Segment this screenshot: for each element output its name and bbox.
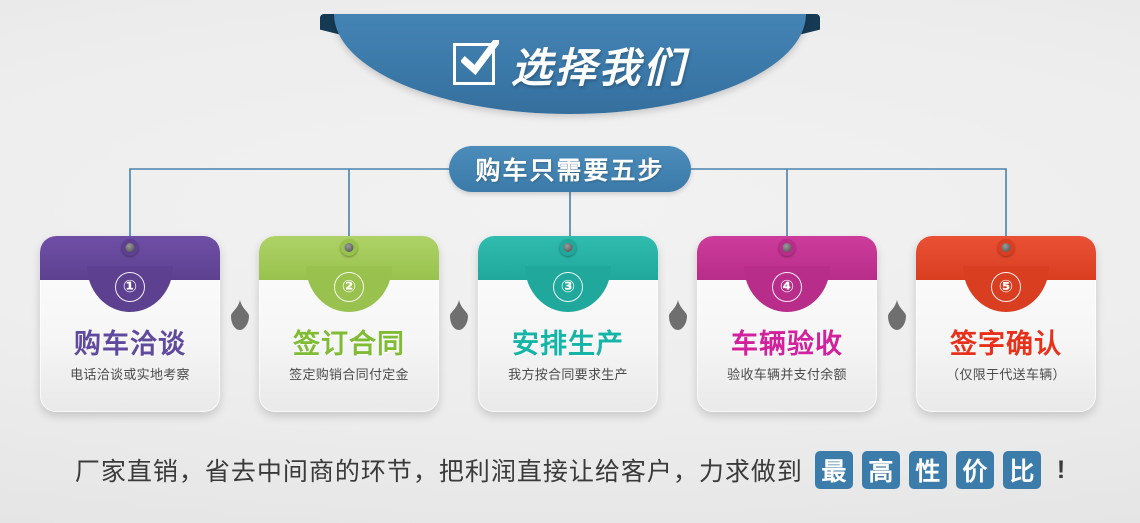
banner-body: 选择我们 [334,14,806,114]
step-number-badge: ③ [553,272,583,302]
steps-badge-label: 购车只需要五步 [475,151,664,187]
step-subtitle: 验收车辆并支付余额 [697,364,877,383]
arrow-pointer-icon [667,300,689,330]
step-card[interactable]: ②签订合同签定购销合同付定金 [259,236,439,412]
checkbox-checked-icon [453,43,495,85]
step-title: 购车洽谈 [40,322,220,361]
arrow-pointer-icon [886,300,908,330]
banner-title: 选择我们 [511,34,687,94]
grommet-icon [560,239,577,256]
arrow-pointer-icon [229,300,251,330]
step-number-badge: ① [115,272,145,302]
grommet-icon [122,239,139,256]
footer-highlight-char: 性 [909,451,947,489]
step-number-badge: ② [334,272,364,302]
step-title: 签字确认 [916,322,1096,361]
arrow-pointer-icon [448,300,470,330]
footer-tagline: 厂家直销，省去中间商的环节，把利润直接让给客户，力求做到 最高性价比 ! [0,442,1140,498]
footer-text-before: 厂家直销，省去中间商的环节，把利润直接让给客户，力求做到 [75,452,803,488]
footer-highlight-char: 比 [1003,451,1041,489]
infographic-root: 选择我们 购车只需要五步 ①购车洽谈电话洽谈或实地考察②签订合同签定购销合同付定… [0,0,1140,523]
grommet-icon [341,239,358,256]
step-title: 签订合同 [259,322,439,361]
step-card[interactable]: ①购车洽谈电话洽谈或实地考察 [40,236,220,412]
step-number-badge: ⑤ [991,272,1021,302]
footer-highlight-char: 最 [815,451,853,489]
step-subtitle: （仅限于代送车辆） [916,364,1096,383]
step-subtitle: 我方按合同要求生产 [478,364,658,383]
footer-highlight-char: 高 [862,451,900,489]
step-subtitle: 签定购销合同付定金 [259,364,439,383]
steps-row: ①购车洽谈电话洽谈或实地考察②签订合同签定购销合同付定金③安排生产我方按合同要求… [0,236,1140,416]
step-card[interactable]: ⑤签字确认（仅限于代送车辆） [916,236,1096,412]
step-card[interactable]: ④车辆验收验收车辆并支付余额 [697,236,877,412]
step-title: 车辆验收 [697,322,877,361]
footer-highlight-char: 价 [956,451,994,489]
footer-highlight-group: 最高性价比 [815,451,1041,489]
footer-text-after: ! [1057,456,1065,485]
step-subtitle: 电话洽谈或实地考察 [40,364,220,383]
steps-badge: 购车只需要五步 [449,146,691,192]
step-number-badge: ④ [772,272,802,302]
grommet-icon [779,239,796,256]
header-banner: 选择我们 [320,14,820,119]
step-card[interactable]: ③安排生产我方按合同要求生产 [478,236,658,412]
step-title: 安排生产 [478,322,658,361]
grommet-icon [998,239,1015,256]
